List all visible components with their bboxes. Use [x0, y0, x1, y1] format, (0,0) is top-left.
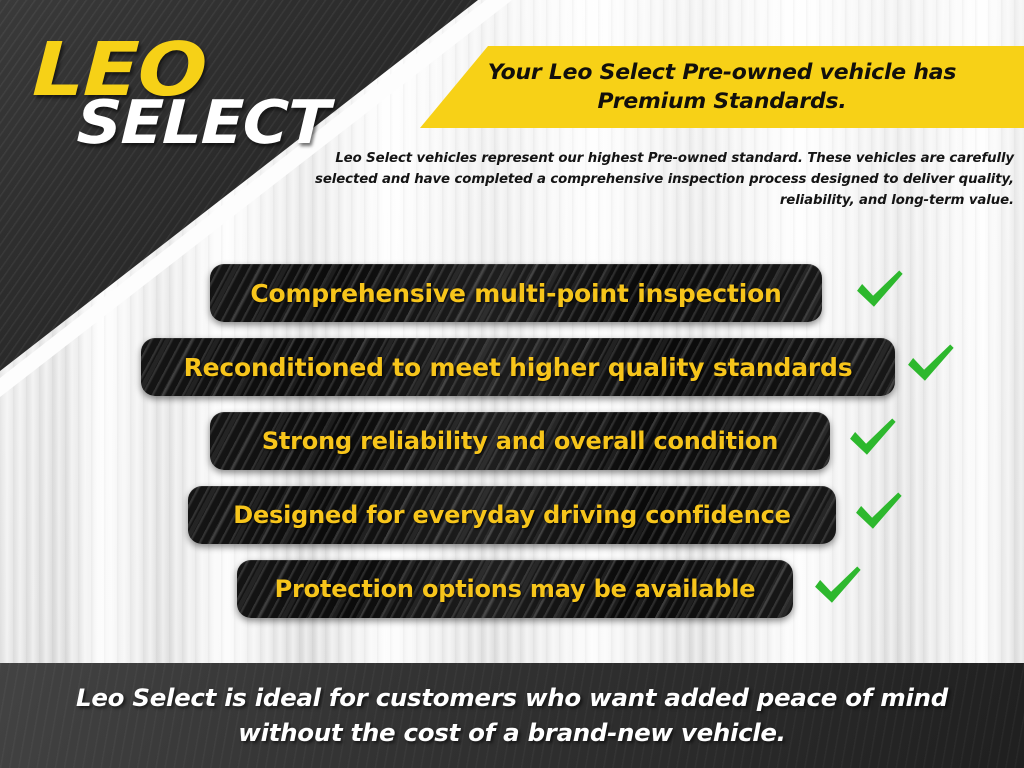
feature-row: Comprehensive multi-point inspection [0, 264, 1024, 338]
footer-text: Leo Select is ideal for customers who wa… [53, 681, 971, 749]
feature-label: Designed for everyday driving confidence [233, 501, 790, 529]
check-icon [851, 484, 905, 538]
brand-logo: LEO SELECT [34, 36, 304, 168]
feature-label: Strong reliability and overall condition [262, 427, 778, 455]
feature-pill: Designed for everyday driving confidence [188, 486, 836, 544]
feature-row: Protection options may be available [0, 560, 1024, 634]
feature-label: Reconditioned to meet higher quality sta… [184, 353, 853, 382]
leo-select-promo-graphic: LEO SELECT Your Leo Select Pre-owned veh… [0, 0, 1024, 768]
feature-pill: Strong reliability and overall condition [210, 412, 830, 470]
footer-banner: Leo Select is ideal for customers who wa… [0, 663, 1024, 768]
feature-label: Comprehensive multi-point inspection [250, 279, 781, 308]
feature-row: Strong reliability and overall condition [0, 412, 1024, 486]
headline-banner: Your Leo Select Pre-owned vehicle has Pr… [420, 46, 1024, 128]
intro-paragraph: Leo Select vehicles represent our highes… [314, 148, 1014, 211]
feature-pill: Protection options may be available [237, 560, 793, 618]
headline-text: Your Leo Select Pre-owned vehicle has Pr… [447, 58, 998, 116]
check-icon [845, 410, 899, 464]
feature-row: Reconditioned to meet higher quality sta… [0, 338, 1024, 412]
feature-row: Designed for everyday driving confidence [0, 486, 1024, 560]
feature-pill: Comprehensive multi-point inspection [210, 264, 822, 322]
feature-label: Protection options may be available [275, 575, 756, 603]
feature-pill: Reconditioned to meet higher quality sta… [141, 338, 895, 396]
logo-word-select: SELECT [76, 96, 313, 151]
feature-list: Comprehensive multi-point inspection Rec… [0, 264, 1024, 634]
check-icon [810, 558, 864, 612]
check-icon [903, 336, 957, 390]
check-icon [852, 262, 906, 316]
